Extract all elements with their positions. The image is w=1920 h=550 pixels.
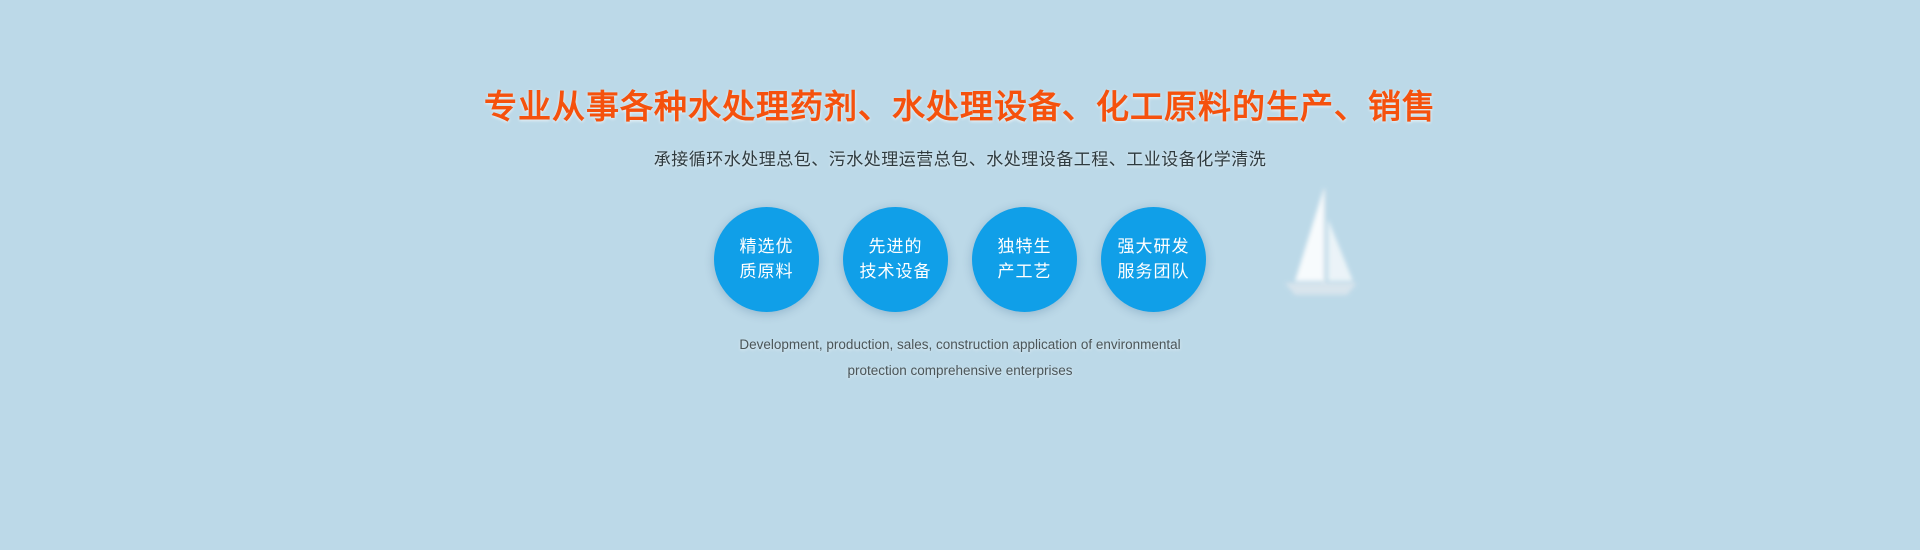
feature-circle-line2: 服务团队	[1118, 260, 1190, 284]
feature-circle-line1: 先进的	[869, 235, 923, 259]
page-subtitle: 承接循环水处理总包、污水处理运营总包、水处理设备工程、工业设备化学清洗	[0, 145, 1920, 170]
banner-content: 专业从事各种水处理药剂、水处理设备、化工原料的生产、销售 承接循环水处理总包、污…	[0, 0, 1920, 550]
feature-circle-line2: 技术设备	[860, 260, 932, 284]
english-caption: Development, production, sales, construc…	[0, 332, 1920, 385]
feature-circle-line2: 产工艺	[998, 260, 1052, 284]
english-caption-line2: protection comprehensive enterprises	[0, 358, 1920, 384]
feature-circle-list: 精选优 质原料 先进的 技术设备 独特生 产工艺 强大研发 服务团队	[0, 207, 1920, 312]
feature-circle-technology[interactable]: 先进的 技术设备	[843, 207, 948, 312]
feature-circle-line2: 质原料	[740, 260, 794, 284]
feature-circle-line1: 精选优	[740, 235, 794, 259]
feature-circle-rd-team[interactable]: 强大研发 服务团队	[1101, 207, 1206, 312]
feature-circle-process[interactable]: 独特生 产工艺	[972, 207, 1077, 312]
feature-circle-raw-material[interactable]: 精选优 质原料	[714, 207, 819, 312]
hero-banner: 专业从事各种水处理药剂、水处理设备、化工原料的生产、销售 承接循环水处理总包、污…	[0, 0, 1920, 550]
page-title: 专业从事各种水处理药剂、水处理设备、化工原料的生产、销售	[0, 80, 1920, 128]
english-caption-line1: Development, production, sales, construc…	[0, 332, 1920, 358]
feature-circle-line1: 强大研发	[1118, 235, 1190, 259]
feature-circle-line1: 独特生	[998, 235, 1052, 259]
